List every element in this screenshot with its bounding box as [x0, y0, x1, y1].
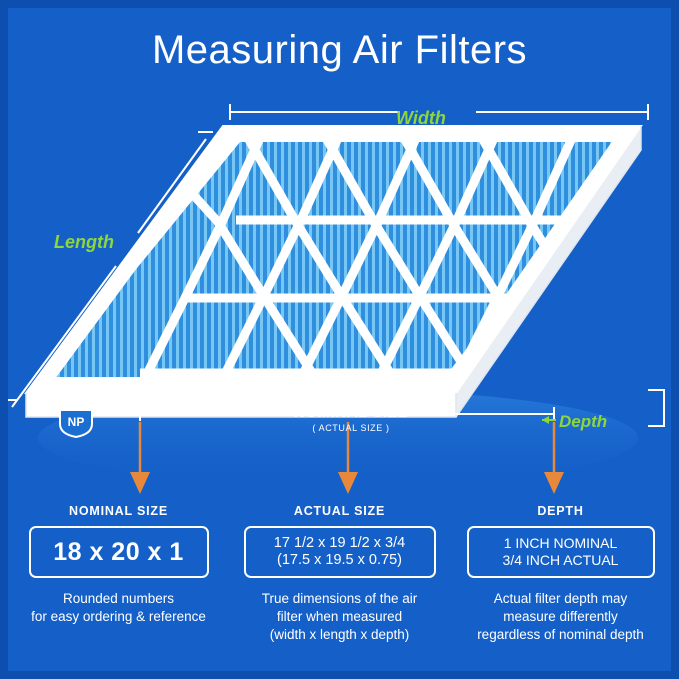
explanation-columns: NOMINAL SIZE 18 x 20 x 1 Rounded numbers…	[8, 504, 671, 645]
column-heading: ACTUAL SIZE	[229, 504, 450, 518]
value-sub: (17.5 x 19.5 x 0.75)	[277, 552, 402, 569]
column-nominal-size: NOMINAL SIZE 18 x 20 x 1 Rounded numbers…	[8, 504, 229, 645]
column-caption: True dimensions of the airfilter when me…	[229, 590, 450, 645]
value-main: 17 1/2 x 19 1/2 x 3/4	[274, 535, 405, 552]
nominal-size-heading: NOMINAL SIZE	[251, 404, 451, 421]
label-depth: Depth	[559, 412, 607, 432]
column-actual-size: ACTUAL SIZE 17 1/2 x 19 1/2 x 3/4 (17.5 …	[229, 504, 450, 645]
nominal-size-subheading: ( ACTUAL SIZE )	[251, 423, 451, 433]
brand-logo: NP	[56, 408, 96, 438]
value-box: 18 x 20 x 1	[29, 526, 209, 578]
svg-text:NP: NP	[68, 415, 85, 429]
diagram-stage: Measuring Air Filters	[8, 8, 671, 671]
label-length: Length	[54, 232, 114, 253]
column-heading: DEPTH	[450, 504, 671, 518]
value-box: 17 1/2 x 19 1/2 x 3/4 (17.5 x 19.5 x 0.7…	[244, 526, 436, 578]
value-main: 18 x 20 x 1	[53, 538, 184, 567]
column-depth: DEPTH 1 INCH NOMINAL 3/4 INCH ACTUAL Act…	[450, 504, 671, 645]
value-box: 1 INCH NOMINAL 3/4 INCH ACTUAL	[467, 526, 655, 578]
label-width: Width	[396, 108, 446, 129]
value-sub: 3/4 INCH ACTUAL	[503, 552, 619, 570]
column-caption: Actual filter depth maymeasure different…	[450, 590, 671, 645]
column-heading: NOMINAL SIZE	[8, 504, 229, 518]
column-caption: Rounded numbersfor easy ordering & refer…	[8, 590, 229, 626]
value-main: 1 INCH NOMINAL	[504, 535, 618, 553]
nominal-size-caption: NOMINAL SIZE ( ACTUAL SIZE )	[251, 404, 451, 433]
